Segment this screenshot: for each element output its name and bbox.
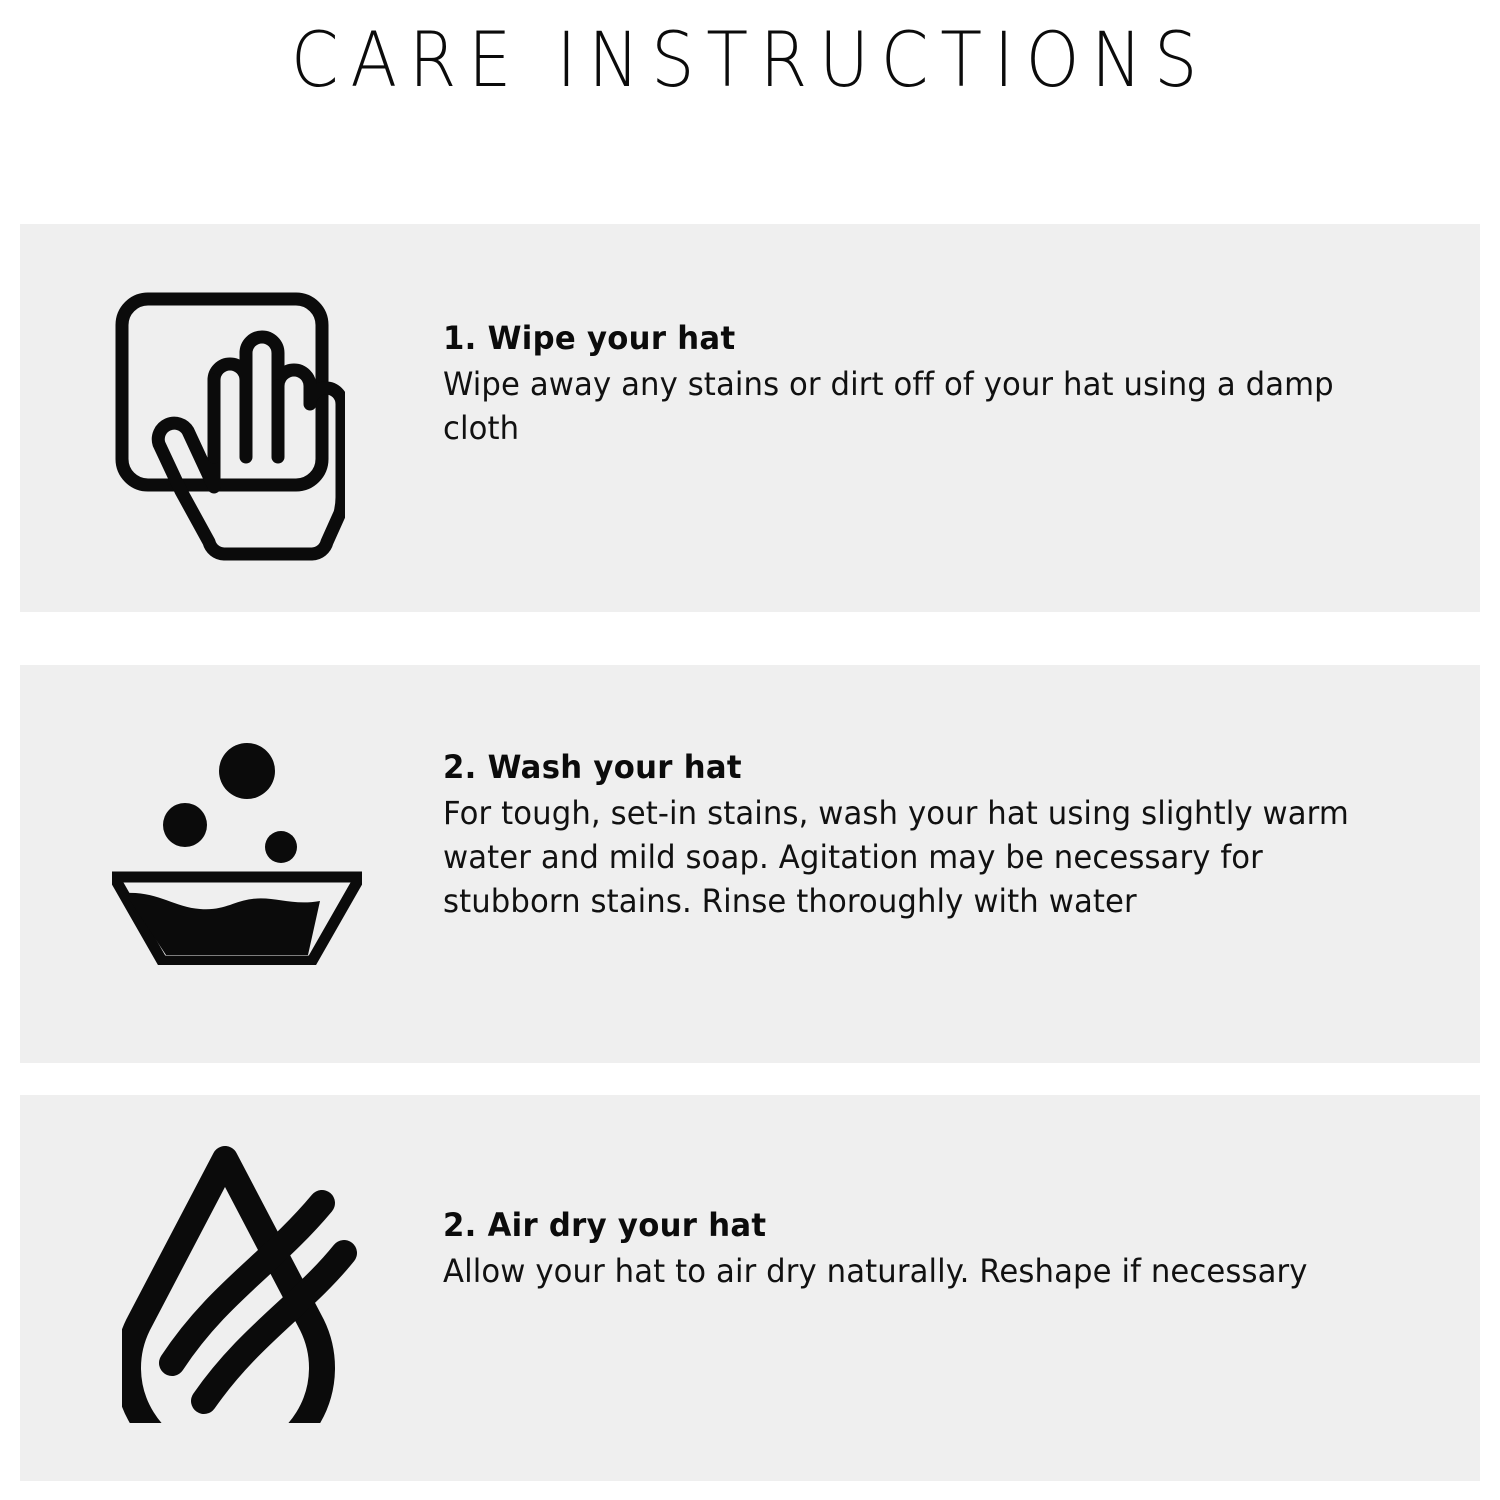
step-heading: 2. Wash your hat	[443, 745, 1403, 789]
card-text-air-dry: 2. Air dry your hat Allow your hat to ai…	[443, 1203, 1443, 1293]
care-step-card-wipe: 1. Wipe your hat Wipe away any stains or…	[20, 224, 1480, 612]
step-body: Wipe away any stains or dirt off of your…	[443, 362, 1403, 450]
page-title: CARE INSTRUCTIONS	[75, 8, 1425, 112]
water-droplet-air-dry-icon	[90, 1095, 410, 1481]
bubble-small	[265, 831, 297, 863]
care-step-card-air-dry: 2. Air dry your hat Allow your hat to ai…	[20, 1095, 1480, 1481]
card-text-wash: 2. Wash your hat For tough, set-in stain…	[443, 745, 1443, 923]
bubble-medium	[163, 803, 207, 847]
care-step-card-wash: 2. Wash your hat For tough, set-in stain…	[20, 665, 1480, 1063]
wash-basin-bubbles-icon	[90, 665, 410, 1063]
step-body: For tough, set-in stains, wash your hat …	[443, 791, 1403, 923]
card-text-wipe: 1. Wipe your hat Wipe away any stains or…	[443, 316, 1443, 450]
bubble-large	[219, 743, 275, 799]
hand-wiping-cloth-icon	[90, 224, 410, 612]
care-instructions-page: CARE INSTRUCTIONS 1. Wipe your hat Wipe …	[0, 0, 1500, 1500]
step-heading: 1. Wipe your hat	[443, 316, 1403, 360]
step-heading: 2. Air dry your hat	[443, 1203, 1403, 1247]
step-body: Allow your hat to air dry naturally. Res…	[443, 1249, 1403, 1293]
